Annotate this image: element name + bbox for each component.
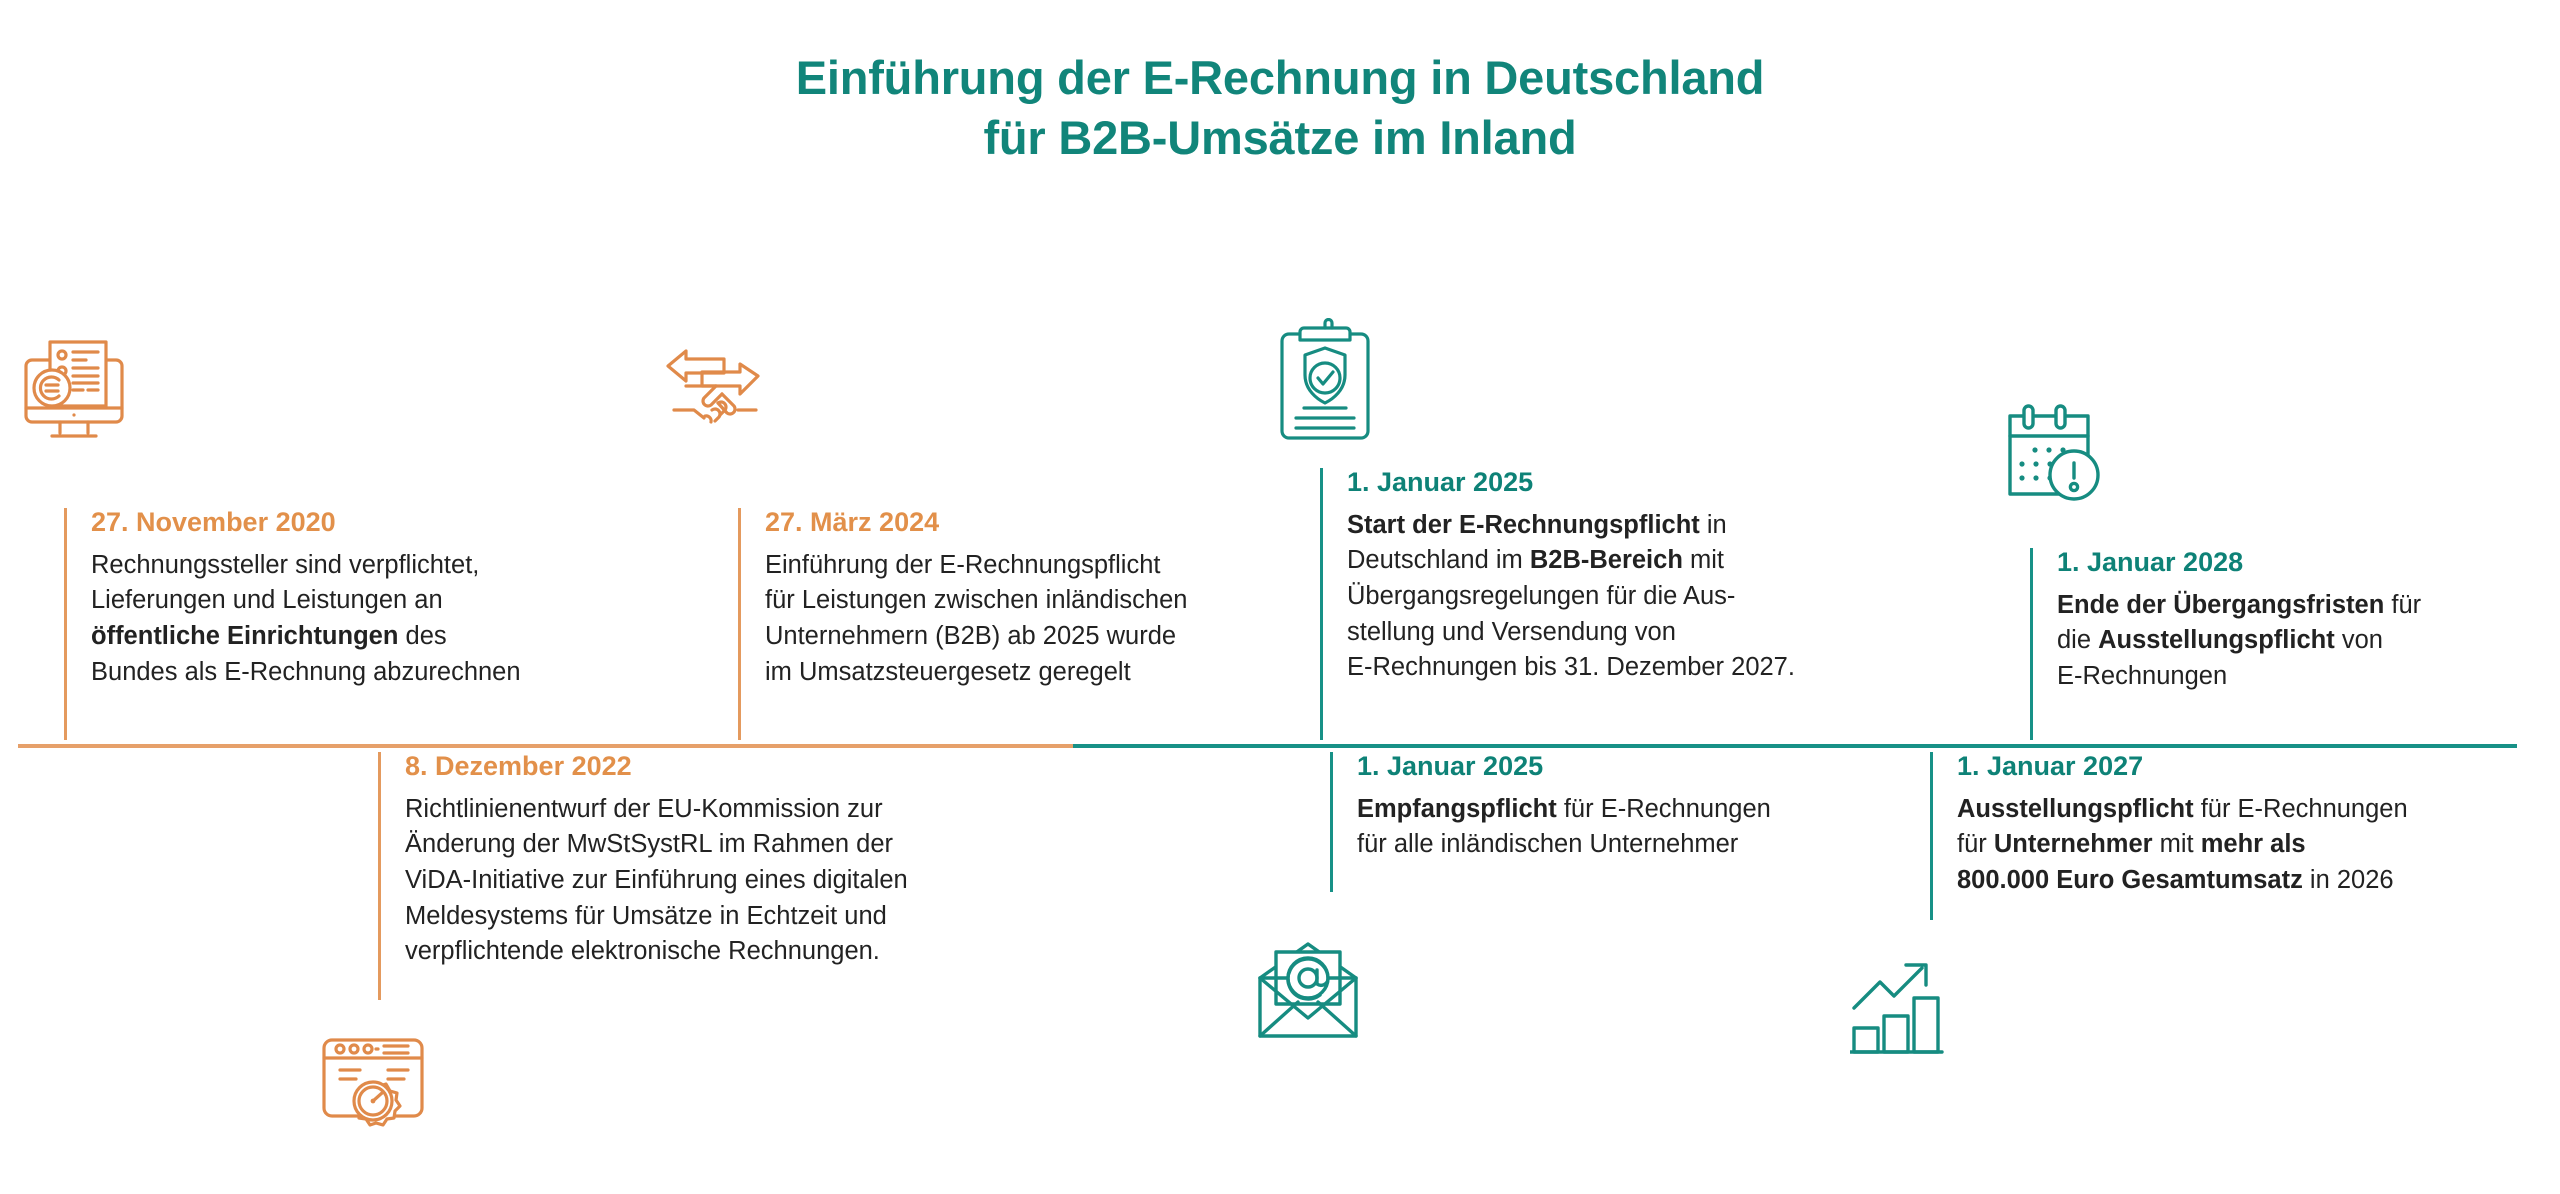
entry-accent-bar xyxy=(64,508,67,740)
entry-date: 1. Januar 2027 xyxy=(1957,752,2540,782)
entry-accent-bar xyxy=(378,752,381,1000)
entry-date: 27. November 2020 xyxy=(91,508,644,538)
entry-date: 1. Januar 2028 xyxy=(2057,548,2550,578)
browser-gear-icon xyxy=(312,1030,437,1145)
page-title-line-1: Einführung der E-Rechnung in Deutschland xyxy=(0,48,2560,108)
timeline-axis-past xyxy=(18,744,1073,748)
timeline-entry-2027-01-01[interactable]: 1. Januar 2027 Ausstellungspflicht für E… xyxy=(1930,752,2540,920)
entry-accent-bar xyxy=(1330,752,1333,892)
entry-body: Ausstellungspflicht für E-Rechnungenfür … xyxy=(1957,792,2540,899)
entry-date: 8. Dezember 2022 xyxy=(405,752,1078,782)
envelope-at-icon xyxy=(1250,940,1375,1050)
timeline-entry-2024-03-27[interactable]: 27. März 2024 Einführung der E-Rechnungs… xyxy=(738,508,1338,740)
calendar-alert-icon xyxy=(2000,400,2120,515)
entry-body: Start der E-Rechnungspflicht inDeutschla… xyxy=(1347,508,1920,686)
monitor-euro-invoice-icon xyxy=(8,330,148,460)
entry-body: Ende der Übergangsfristen fürdie Ausstel… xyxy=(2057,588,2550,695)
timeline-entry-2020-11-27[interactable]: 27. November 2020 Rechnungssteller sind … xyxy=(64,508,644,740)
timeline-entry-2028-01-01[interactable]: 1. Januar 2028 Ende der Übergangsfristen… xyxy=(2030,548,2550,740)
timeline-entry-2025-01-01-empfang[interactable]: 1. Januar 2025 Empfangspflicht für E-Rec… xyxy=(1330,752,1930,892)
entry-accent-bar xyxy=(1930,752,1933,920)
entry-date: 1. Januar 2025 xyxy=(1357,752,1930,782)
timeline-entry-2025-01-01-start[interactable]: 1. Januar 2025 Start der E-Rechnungspfli… xyxy=(1320,468,1920,740)
growth-bar-chart-icon xyxy=(1850,952,1975,1062)
page-title: Einführung der E-Rechnung in Deutschland… xyxy=(0,48,2560,168)
page-title-line-2: für B2B-Umsätze im Inland xyxy=(0,108,2560,168)
entry-accent-bar xyxy=(738,508,741,740)
entry-date: 27. März 2024 xyxy=(765,508,1338,538)
entry-body: Rechnungssteller sind verpflichtet,Liefe… xyxy=(91,548,644,691)
timeline-axis-future xyxy=(1073,744,2517,748)
entry-accent-bar xyxy=(1320,468,1323,740)
entry-accent-bar xyxy=(2030,548,2033,740)
entry-body: Einführung der E-Rechnungspflichtfür Lei… xyxy=(765,548,1338,691)
entry-body: Richtlinienentwurf der EU-Kommission zur… xyxy=(405,792,1078,970)
handshake-exchange-icon xyxy=(660,338,790,448)
entry-body: Empfangspflicht für E-Rechnungenfür alle… xyxy=(1357,792,1930,863)
clipboard-shield-check-icon xyxy=(1268,318,1388,453)
timeline-entry-2022-12-08[interactable]: 8. Dezember 2022 Richtlinienentwurf der … xyxy=(378,752,1078,1000)
entry-date: 1. Januar 2025 xyxy=(1347,468,1920,498)
